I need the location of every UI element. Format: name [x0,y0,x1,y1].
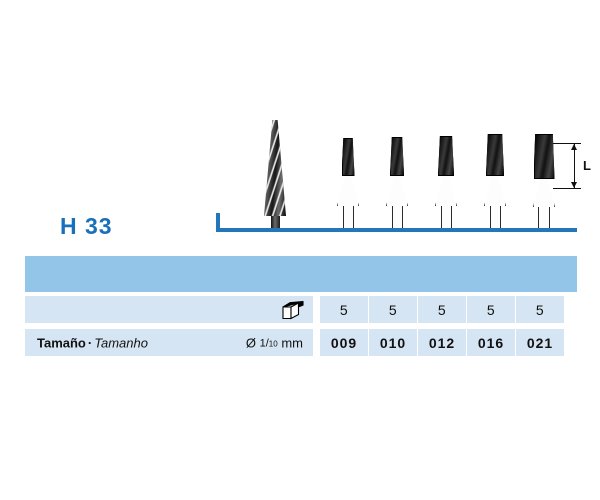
length-dimension-marker: L [553,143,599,193]
dimension-guide-bottom [553,188,581,189]
size-cell-4: 016 [467,329,515,356]
size-cell-3: 012 [418,329,466,356]
bur-shank-stem-021 [538,207,550,228]
bur-shank-flare-021 [533,179,555,207]
bur-size-016 [484,134,506,228]
bur-size-010 [386,137,408,228]
bur-shank-stem-009 [343,206,354,228]
size-label-separator: · [86,335,94,350]
bur-size-012 [435,136,457,228]
quantity-cell-5: 5 [516,296,564,323]
size-cell-2: 010 [369,329,417,356]
bur-head-016 [486,134,504,176]
bur-shank-021 [533,179,555,228]
size-cell-5: 021 [516,329,564,356]
bur-head-012 [438,136,454,176]
bur-shank-stem-012 [441,206,452,228]
bur-shank-flare-012 [435,176,457,206]
unit-suffix: mm [281,335,303,350]
unit-denominator: 10 [269,339,278,348]
quantity-label-cell [25,296,313,323]
unit-fraction: 1/10 [260,337,278,349]
bur-size-009 [337,138,359,228]
quantity-row: 5 5 5 5 5 [25,296,577,323]
bur-shank-016 [484,176,506,228]
size-cell-1: 009 [320,329,368,356]
dimension-label-L: L [583,158,591,173]
bur-shank-012 [435,176,457,228]
bur-head-009 [342,138,355,176]
unit-numerator: 1 [260,337,266,349]
bur-shank-stem-016 [490,206,501,228]
size-row: Tamaño·Tamanho Ø 1/10 mm 009 010 012 016… [25,329,577,356]
size-label-cell: Tamaño·Tamanho Ø 1/10 mm [25,329,313,356]
bur-shank-flare-009 [337,176,359,206]
bur-head-010 [390,137,404,176]
quantity-cell-4: 5 [467,296,515,323]
package-box-icon [282,300,304,319]
page-title: H 33 [60,213,113,240]
bur-shank-stem-010 [392,206,403,228]
bur-shank-flare-016 [484,176,506,206]
product-spec-sheet: L H 33 5 5 5 5 5 Tam [0,0,600,500]
bur-illustration: L [0,0,600,232]
size-label-es: Tamaño [37,335,86,350]
quantity-cell-1: 5 [320,296,368,323]
bur-size-021 [533,134,555,228]
dimension-arrowhead-top [571,144,577,150]
bur-shank-010 [386,176,408,228]
bur-neck-detail [271,216,280,228]
baseline [216,228,577,232]
dimension-arrowhead-bottom [571,182,577,188]
size-label: Tamaño·Tamanho [37,335,148,350]
size-unit: Ø 1/10 mm [246,335,303,350]
bur-shank-009 [337,176,359,228]
bur-head-021 [534,134,555,179]
bur-cutting-head-detail [264,120,286,216]
quantity-cell-2: 5 [369,296,417,323]
diameter-symbol: Ø [246,335,256,350]
quantity-cell-3: 5 [418,296,466,323]
bur-shank-flare-010 [386,176,408,206]
header-band [25,256,577,292]
size-label-pt: Tamanho [94,335,148,350]
bur-detail-illustration [264,120,286,228]
